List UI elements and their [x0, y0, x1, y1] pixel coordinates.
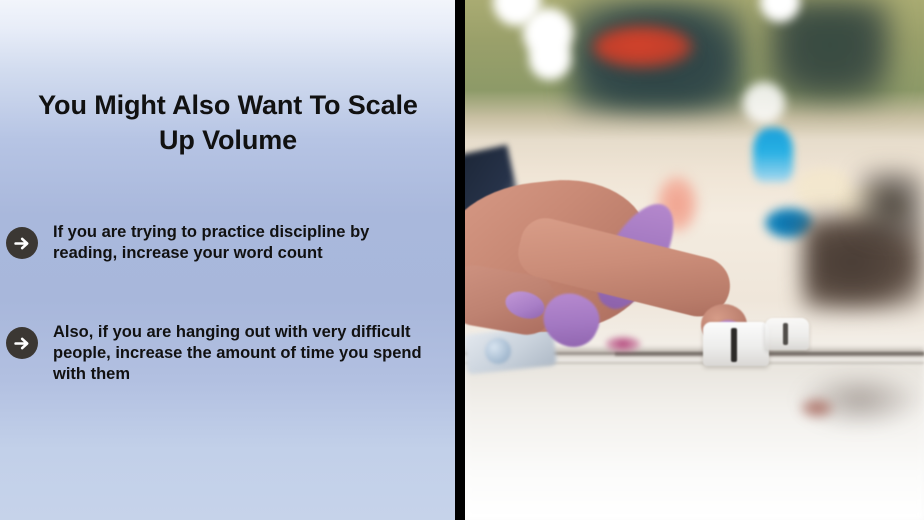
photo-blur-equipment-2 [857, 168, 924, 238]
page-title: You Might Also Want To Scale Up Volume [28, 88, 428, 158]
photo-console-fader-2 [765, 318, 809, 350]
list-item-label: If you are trying to practice discipline… [53, 222, 455, 264]
arrow-right-circle-icon [6, 227, 38, 259]
photo-blue-bottle [753, 128, 793, 182]
hand-adjusting-mixing-console-fader-image [465, 0, 924, 520]
panel-divider [455, 0, 465, 520]
photo-bokeh-light [743, 82, 785, 124]
list-item: If you are trying to practice discipline… [0, 222, 455, 264]
list-item-label: Also, if you are hanging out with very d… [53, 322, 455, 385]
photo-console-fader [703, 322, 769, 366]
slide: You Might Also Want To Scale Up Volume I… [0, 0, 924, 520]
left-text-panel: You Might Also Want To Scale Up Volume I… [0, 0, 455, 520]
panel-content: You Might Also Want To Scale Up Volume I… [0, 0, 455, 520]
photo-bokeh-light [529, 38, 571, 80]
photo-blur-red-object [593, 26, 693, 68]
photo-console-indicator [800, 398, 834, 418]
bullet-list: If you are trying to practice discipline… [0, 222, 455, 443]
list-item: Also, if you are hanging out with very d… [0, 322, 455, 385]
arrow-right-circle-icon [6, 327, 38, 359]
